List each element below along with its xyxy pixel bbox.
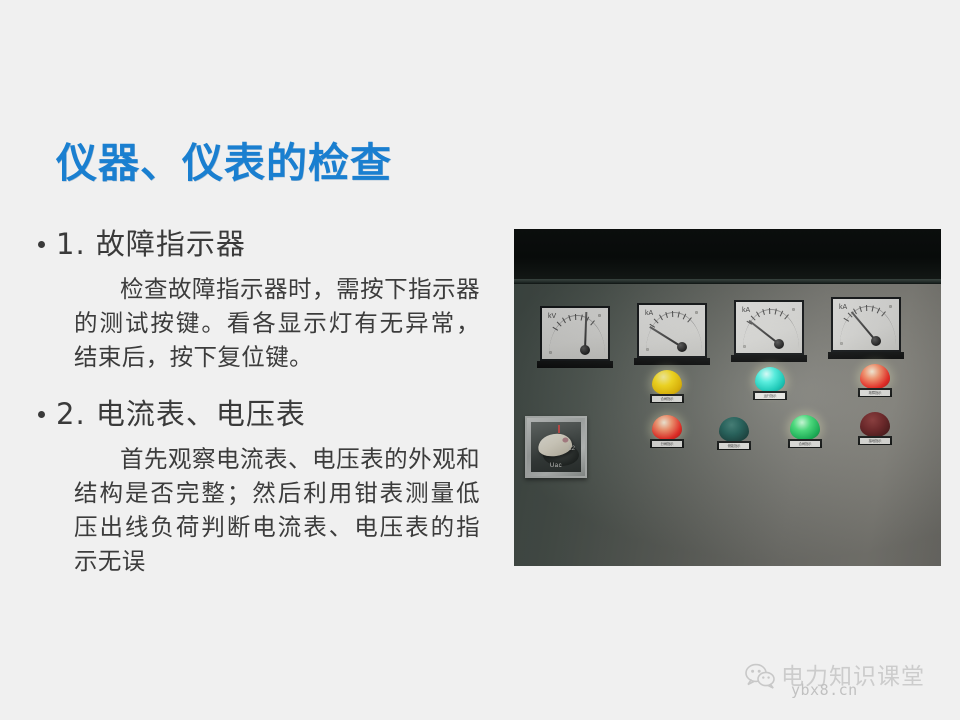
- bullet-block-2: 2. 电流表、电压表 首先观察电流表、电压表的外观和结构是否完整；然后利用钳表测…: [38, 392, 498, 578]
- indicator-lamp-group: 合闸指示 分闸指示 储能指示 运行指示: [514, 284, 941, 566]
- content-column: 1. 故障指示器 检查故障指示器时，需按下指示器的测试按键。看各显示灯有无异常，…: [38, 222, 498, 588]
- wechat-icon: [745, 663, 775, 691]
- lamp-cyan-top[interactable]: 运行指示: [753, 367, 787, 399]
- panel-top-dark-band: [514, 229, 941, 281]
- bullet-heading-1: 1. 故障指示器: [56, 222, 246, 266]
- bullet-body-1: 检查故障指示器时，需按下指示器的测试按键。看各显示灯有无异常，结束后，按下复位键…: [74, 272, 480, 374]
- bullet-marker-1: [38, 222, 56, 266]
- lamp-bulb: [790, 415, 820, 440]
- lamp-bulb: [652, 415, 682, 440]
- watermark: 电力知识课堂 ybx8.cn: [745, 655, 950, 703]
- switchgear-panel-photo: kV kA: [514, 229, 941, 566]
- lamp-bulb: [860, 412, 890, 437]
- bullet-heading-row-2: 2. 电流表、电压表: [38, 392, 498, 436]
- lamp-green-bottom[interactable]: 合闸指示: [788, 415, 822, 447]
- lamp-red-bottom[interactable]: 分闸指示: [650, 415, 684, 447]
- bullet-marker-2: [38, 392, 56, 436]
- lamp-tag: 接地指示: [860, 438, 890, 444]
- lamp-tag: 合闸指示: [790, 441, 820, 447]
- bullet-heading-row-1: 1. 故障指示器: [38, 222, 498, 266]
- lamp-bulb: [719, 417, 749, 442]
- bullet-body-2: 首先观察电流表、电压表的外观和结构是否完整；然后利用钳表测量低压出线负荷判断电流…: [74, 442, 480, 578]
- lamp-red-top-right[interactable]: 故障指示: [858, 364, 892, 396]
- lamp-bulb: [860, 364, 890, 389]
- lamp-bulb: [652, 370, 682, 395]
- lamp-tag: 故障指示: [860, 390, 890, 396]
- lamp-darkred-bottom-right[interactable]: 接地指示: [858, 412, 892, 444]
- lamp-tag: 储能指示: [719, 443, 749, 449]
- panel-face: kV kA: [514, 284, 941, 566]
- bullet-block-1: 1. 故障指示器 检查故障指示器时，需按下指示器的测试按键。看各显示灯有无异常，…: [38, 222, 498, 374]
- watermark-url: ybx8.cn: [791, 681, 858, 699]
- slide-root: 仪器、仪表的检查 1. 故障指示器 检查故障指示器时，需按下指示器的测试按键。看…: [0, 0, 960, 720]
- lamp-tag: 合闸指示: [652, 396, 682, 402]
- lamp-tag: 分闸指示: [652, 441, 682, 447]
- lamp-bulb: [755, 367, 785, 392]
- bullet-heading-2: 2. 电流表、电压表: [56, 392, 306, 436]
- lamp-tag: 运行指示: [755, 393, 785, 399]
- page-title: 仪器、仪表的检查: [56, 129, 392, 189]
- lamp-yellow-top[interactable]: 合闸指示: [650, 370, 684, 402]
- lamp-darkteal-bottom[interactable]: 储能指示: [717, 417, 751, 449]
